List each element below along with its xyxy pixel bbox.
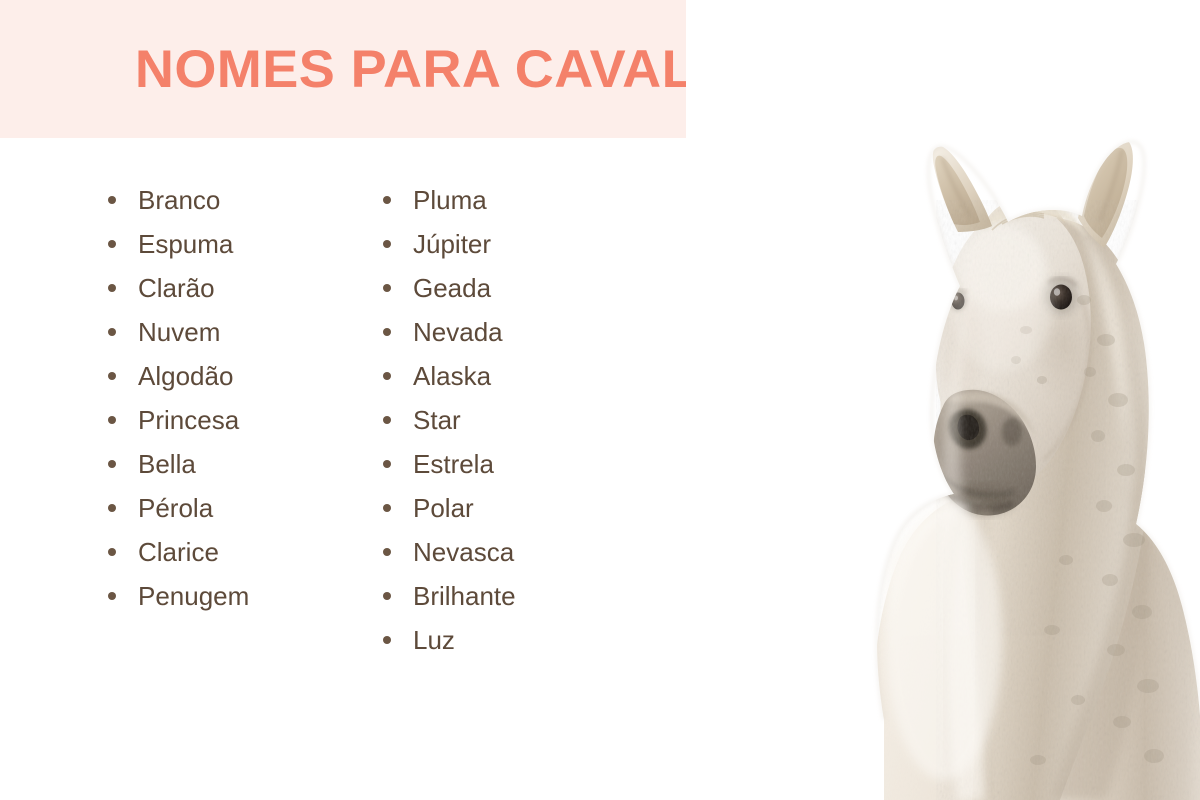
list-item: Alaska: [371, 354, 671, 398]
list-item-label: Geada: [413, 273, 491, 303]
bullet-icon: [383, 328, 391, 336]
bullet-icon: [108, 196, 116, 204]
bullet-icon: [383, 240, 391, 248]
bullet-icon: [383, 284, 391, 292]
list-item-label: Star: [413, 405, 461, 435]
list-item-label: Espuma: [138, 229, 233, 259]
list-item: Júpiter: [371, 222, 671, 266]
bullet-icon: [383, 636, 391, 644]
name-lists: Branco Espuma Clarão Nuvem Algodão: [96, 178, 671, 662]
list-item: Geada: [371, 266, 671, 310]
list-item: Luz: [371, 618, 671, 662]
poster-page: NOMES PARA CAVALOS BRANCOS Branco Espuma…: [0, 0, 1200, 800]
list-item-label: Pluma: [413, 185, 487, 215]
list-item-label: Pérola: [138, 493, 213, 523]
list-item-label: Júpiter: [413, 229, 491, 259]
list-item-label: Alaska: [413, 361, 491, 391]
header-band: NOMES PARA CAVALOS BRANCOS: [0, 0, 1200, 138]
bullet-icon: [383, 504, 391, 512]
list-item-label: Clarice: [138, 537, 219, 567]
bullet-icon: [383, 416, 391, 424]
content-area: Branco Espuma Clarão Nuvem Algodão: [0, 138, 1200, 800]
bullet-icon: [108, 548, 116, 556]
name-list-column-1: Branco Espuma Clarão Nuvem Algodão: [96, 178, 371, 618]
bullet-icon: [383, 196, 391, 204]
bullet-icon: [383, 548, 391, 556]
bullet-icon: [108, 504, 116, 512]
list-item: Branco: [96, 178, 371, 222]
list-item-label: Nevada: [413, 317, 503, 347]
list-item-label: Princesa: [138, 405, 239, 435]
bullet-icon: [108, 592, 116, 600]
list-item: Estrela: [371, 442, 671, 486]
list-item-label: Luz: [413, 625, 455, 655]
list-item-label: Bella: [138, 449, 196, 479]
bullet-icon: [383, 372, 391, 380]
list-item: Bella: [96, 442, 371, 486]
list-item: Nuvem: [96, 310, 371, 354]
list-item: Algodão: [96, 354, 371, 398]
list-item-label: Polar: [413, 493, 474, 523]
list-item-label: Branco: [138, 185, 220, 215]
list-item: Nevada: [371, 310, 671, 354]
list-item-label: Penugem: [138, 581, 249, 611]
list-item-label: Algodão: [138, 361, 233, 391]
list-item: Star: [371, 398, 671, 442]
list-item-label: Clarão: [138, 273, 215, 303]
list-item: Polar: [371, 486, 671, 530]
list-item: Penugem: [96, 574, 371, 618]
list-item: Nevasca: [371, 530, 671, 574]
bullet-icon: [108, 460, 116, 468]
list-item: Clarão: [96, 266, 371, 310]
list-item: Clarice: [96, 530, 371, 574]
bullet-icon: [108, 284, 116, 292]
list-item-label: Nuvem: [138, 317, 220, 347]
list-item-label: Estrela: [413, 449, 494, 479]
list-item: Pérola: [96, 486, 371, 530]
list-item: Brilhante: [371, 574, 671, 618]
bullet-icon: [383, 592, 391, 600]
bullet-icon: [383, 460, 391, 468]
name-list-column-2: Pluma Júpiter Geada Nevada Alaska: [371, 178, 671, 662]
list-item: Espuma: [96, 222, 371, 266]
page-title: NOMES PARA CAVALOS BRANCOS: [124, 43, 1075, 96]
bullet-icon: [108, 240, 116, 248]
bullet-icon: [108, 328, 116, 336]
list-item: Princesa: [96, 398, 371, 442]
list-item: Pluma: [371, 178, 671, 222]
list-item-label: Brilhante: [413, 581, 516, 611]
list-item-label: Nevasca: [413, 537, 514, 567]
bullet-icon: [108, 372, 116, 380]
bullet-icon: [108, 416, 116, 424]
